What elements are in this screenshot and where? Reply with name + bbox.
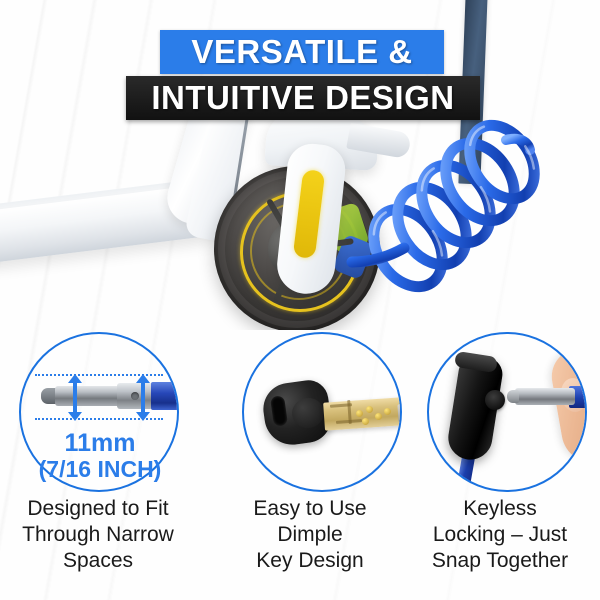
measurement-primary: 11mm xyxy=(0,429,200,458)
feature-caption-keyless-locking: Keyless Locking – Just Snap Together xyxy=(400,496,600,574)
caption-line: Through Narrow xyxy=(0,522,198,548)
caption-line: Designed to Fit xyxy=(0,496,198,522)
caption-line: Spaces xyxy=(0,548,198,574)
title-banner-primary: VERSATILE & xyxy=(160,30,444,74)
lock-pin-shaft xyxy=(515,388,575,405)
product-feature-graphic: VERSATILE & INTUITIVE DESIGN 11mm (7/16 … xyxy=(0,0,600,600)
pin-blue-collar xyxy=(151,382,179,410)
caption-line: Easy to Use xyxy=(210,496,410,522)
feature-icon-circle xyxy=(427,332,587,492)
feature-caption-narrow-spaces: Designed to Fit Through Narrow Spaces xyxy=(0,496,198,574)
dimension-arrow xyxy=(73,378,77,414)
feature-icon-circle xyxy=(242,332,402,492)
caption-line: Locking – Just xyxy=(400,522,600,548)
title-line-2: INTUITIVE DESIGN xyxy=(126,76,480,120)
arrow-head-up-icon xyxy=(68,374,82,383)
dimension-arrow xyxy=(141,378,145,414)
arrow-head-down-icon xyxy=(136,412,150,421)
title-line-1: VERSATILE & xyxy=(160,30,444,74)
feature-caption-dimple-key: Easy to Use Dimple Key Design xyxy=(210,496,410,574)
caption-line: Snap Together xyxy=(400,548,600,574)
arrow-head-down-icon xyxy=(68,412,82,421)
caption-line: Key Design xyxy=(210,548,410,574)
pin-shaft xyxy=(55,386,123,406)
title-banner-secondary: INTUITIVE DESIGN xyxy=(126,76,480,120)
caption-line: Dimple xyxy=(210,522,410,548)
lock-pin-tip xyxy=(507,390,519,403)
arrow-head-up-icon xyxy=(136,374,150,383)
caption-line: Keyless xyxy=(400,496,600,522)
pin-hole xyxy=(131,392,139,400)
key-blade-tip xyxy=(397,404,402,423)
measurement-secondary: (7/16 INCH) xyxy=(0,456,200,483)
